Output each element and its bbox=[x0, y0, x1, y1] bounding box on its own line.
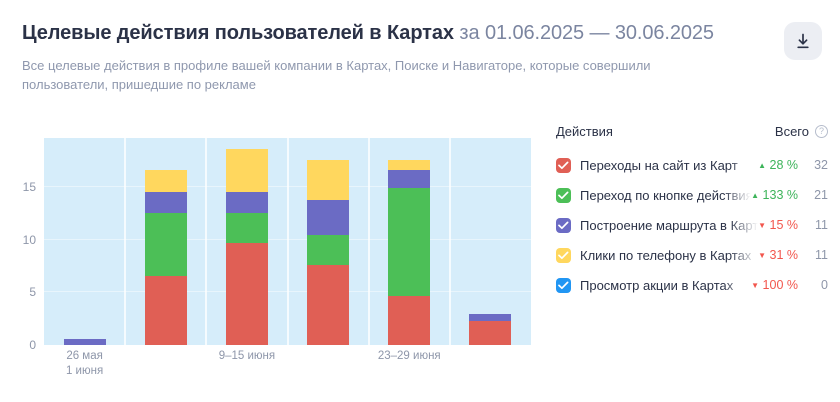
vertical-gridline bbox=[449, 138, 451, 345]
legend-checkbox[interactable] bbox=[556, 218, 571, 233]
legend: Действия Всего ? Переходы на сайт из Кар… bbox=[556, 120, 828, 300]
legend-row[interactable]: Переход по кнопке действия в Картах▲ 133… bbox=[556, 180, 828, 210]
bar-segment[interactable] bbox=[145, 192, 187, 213]
trend-arrow-icon: ▲ bbox=[758, 161, 766, 170]
x-axis-tick-label: 26 мая 1 июня bbox=[66, 349, 103, 379]
legend-delta: ▲ 28 % bbox=[758, 158, 798, 172]
vertical-gridline bbox=[368, 138, 370, 345]
legend-delta: ▼ 15 % bbox=[758, 218, 798, 232]
page-title: Целевые действия пользователей в Картах … bbox=[22, 20, 762, 46]
bar-segment[interactable] bbox=[226, 213, 268, 243]
vertical-gridline bbox=[124, 138, 126, 345]
legend-label: Просмотр акции в Картах bbox=[580, 278, 751, 293]
bar-segment[interactable] bbox=[388, 160, 430, 169]
y-axis: 051015 bbox=[0, 138, 44, 345]
x-axis-tick-label: 23–29 июня bbox=[378, 349, 441, 364]
plot-area bbox=[44, 138, 531, 345]
trend-arrow-icon: ▼ bbox=[758, 221, 766, 230]
legend-total: 32 bbox=[806, 158, 828, 172]
vertical-gridline bbox=[287, 138, 289, 345]
legend-total: 0 bbox=[806, 278, 828, 292]
card-header: Целевые действия пользователей в Картах … bbox=[22, 20, 762, 94]
bar-segment[interactable] bbox=[307, 200, 349, 235]
legend-total: 11 bbox=[806, 218, 828, 232]
bar-segment[interactable] bbox=[145, 213, 187, 276]
bar-segment[interactable] bbox=[226, 149, 268, 192]
legend-checkbox[interactable] bbox=[556, 248, 571, 263]
legend-delta: ▼ 100 % bbox=[751, 278, 798, 292]
trend-arrow-icon: ▼ bbox=[751, 281, 759, 290]
legend-label: Клики по телефону в Картах bbox=[580, 248, 758, 263]
vertical-gridline bbox=[205, 138, 207, 345]
bar-segment[interactable] bbox=[388, 170, 430, 189]
bar-stack[interactable] bbox=[307, 160, 349, 345]
legend-total: 11 bbox=[806, 248, 828, 262]
legend-row[interactable]: Просмотр акции в Картах▼ 100 %0 bbox=[556, 270, 828, 300]
legend-col-total: Всего bbox=[775, 124, 809, 139]
legend-checkbox[interactable] bbox=[556, 158, 571, 173]
legend-row[interactable]: Построение маршрута в Картах▼ 15 %11 bbox=[556, 210, 828, 240]
bar-segment[interactable] bbox=[307, 235, 349, 265]
bar-stack[interactable] bbox=[388, 160, 430, 345]
legend-label: Переходы на сайт из Карт bbox=[580, 158, 758, 173]
bar-stack[interactable] bbox=[226, 149, 268, 345]
legend-row-list: Переходы на сайт из Карт▲ 28 %32Переход … bbox=[556, 150, 828, 300]
legend-row[interactable]: Переходы на сайт из Карт▲ 28 %32 bbox=[556, 150, 828, 180]
bar-segment[interactable] bbox=[64, 339, 106, 345]
legend-col-actions: Действия bbox=[556, 124, 775, 139]
bar-segment[interactable] bbox=[145, 170, 187, 192]
legend-label: Построение маршрута в Картах bbox=[580, 218, 758, 233]
trend-arrow-icon: ▲ bbox=[751, 191, 759, 200]
bar-segment[interactable] bbox=[469, 314, 511, 321]
legend-delta: ▲ 133 % bbox=[751, 188, 798, 202]
legend-row[interactable]: Клики по телефону в Картах▼ 31 %11 bbox=[556, 240, 828, 270]
download-icon bbox=[795, 33, 811, 50]
download-button[interactable] bbox=[784, 22, 822, 60]
title-main: Целевые действия пользователей в Картах bbox=[22, 22, 454, 44]
chart-container: 051015 26 мая 1 июня9–15 июня23–29 июня bbox=[0, 118, 540, 402]
bar-segment[interactable] bbox=[307, 160, 349, 200]
title-period: за 01.06.2025 — 30.06.2025 bbox=[459, 22, 714, 44]
y-axis-tick-label: 5 bbox=[29, 285, 36, 299]
legend-checkbox[interactable] bbox=[556, 278, 571, 293]
legend-header: Действия Всего ? bbox=[556, 120, 828, 142]
legend-label: Переход по кнопке действия в Картах bbox=[580, 188, 751, 203]
bar-segment[interactable] bbox=[307, 265, 349, 345]
bar-segment[interactable] bbox=[388, 188, 430, 295]
bar-segment[interactable] bbox=[145, 276, 187, 345]
bar-segment[interactable] bbox=[226, 192, 268, 213]
question-mark-icon[interactable]: ? bbox=[815, 125, 828, 138]
report-card: Целевые действия пользователей в Картах … bbox=[0, 0, 840, 402]
bar-stack[interactable] bbox=[64, 339, 106, 345]
bar-segment[interactable] bbox=[388, 296, 430, 345]
card-subtitle: Все целевые действия в профиле вашей ком… bbox=[22, 56, 722, 94]
bar-segment[interactable] bbox=[226, 243, 268, 345]
x-axis-tick-label: 9–15 июня bbox=[219, 349, 275, 364]
y-axis-tick-label: 0 bbox=[29, 338, 36, 352]
legend-total: 21 bbox=[806, 188, 828, 202]
bar-segment[interactable] bbox=[469, 321, 511, 345]
legend-delta: ▼ 31 % bbox=[758, 248, 798, 262]
y-axis-tick-label: 10 bbox=[23, 233, 36, 247]
bar-stack[interactable] bbox=[145, 170, 187, 345]
trend-arrow-icon: ▼ bbox=[758, 251, 766, 260]
x-axis: 26 мая 1 июня9–15 июня23–29 июня bbox=[44, 349, 531, 397]
bar-stack[interactable] bbox=[469, 314, 511, 346]
legend-checkbox[interactable] bbox=[556, 188, 571, 203]
y-axis-tick-label: 15 bbox=[23, 180, 36, 194]
